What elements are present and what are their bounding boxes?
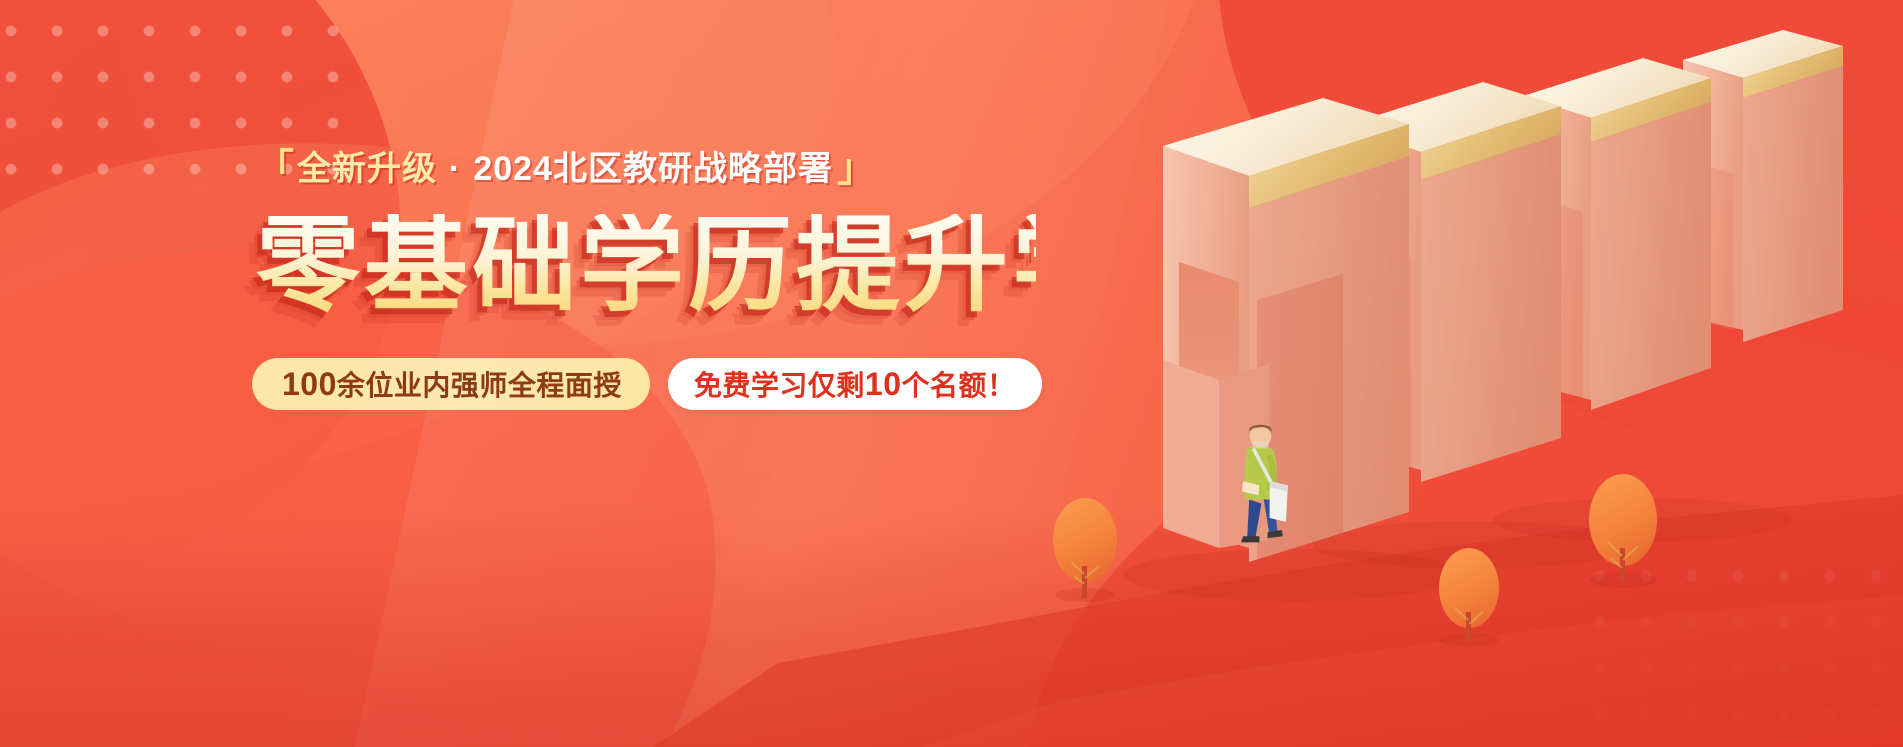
status-badge-teachers: 100 余位业内强师全程面授 — [252, 358, 650, 410]
book-arches-svg — [1043, 0, 1903, 747]
badge-row: 100 余位业内强师全程面授 免费学习仅剩 10 个名额！ — [256, 358, 1036, 410]
quota-tail-label: 个名额！ — [902, 364, 1016, 404]
bracket-right-icon: 」 — [837, 150, 876, 188]
promo-banner: 「 全新升级 · 2024北区教研战略部署 」 零基础学历提升学霸班 100 余… — [0, 0, 1903, 747]
illustration-book-arches — [1043, 0, 1903, 747]
tree-right-small — [1439, 548, 1499, 647]
teachers-label: 余位业内强师全程面授 — [337, 364, 622, 404]
bracket-left-icon: 「 — [256, 150, 295, 188]
banner-text-block: 「 全新升级 · 2024北区教研战略部署 」 零基础学历提升学霸班 100 余… — [256, 150, 1036, 410]
eyebrow-gold-text: 全新升级 — [297, 152, 437, 186]
eyebrow-separator-icon: · — [449, 152, 461, 186]
quota-lead-label: 免费学习仅剩 — [694, 364, 865, 404]
eyebrow-white-text: 2024北区教研战略部署 — [473, 152, 833, 186]
arch-inner-pillar — [1163, 360, 1219, 548]
page-title: 零基础学历提升学霸班 — [256, 214, 1036, 318]
eyebrow-line: 「 全新升级 · 2024北区教研战略部署 」 — [256, 150, 1036, 188]
tree-left — [1053, 498, 1117, 602]
status-badge-quota: 免费学习仅剩 10 个名额！ — [668, 358, 1042, 410]
tree-right-large — [1589, 474, 1657, 588]
teachers-count: 100 — [282, 366, 337, 403]
quota-count: 10 — [865, 366, 902, 403]
